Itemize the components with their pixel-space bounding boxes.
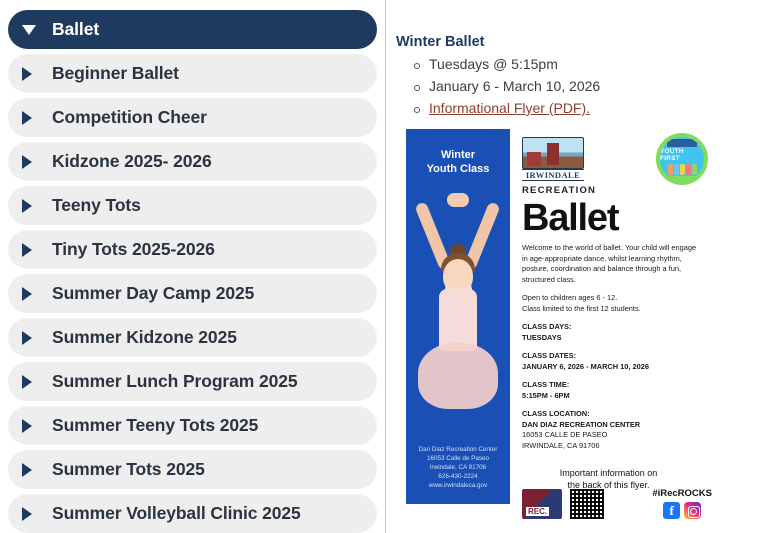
flyer-class-location: CLASS LOCATION: DAN DIAZ RECREATION CENT… (522, 409, 697, 451)
chevron-right-icon (22, 463, 42, 477)
flyer-class-time: CLASS TIME: 5:15PM - 6PM (522, 380, 697, 401)
sidebar-item-label: Summer Kidzone 2025 (52, 327, 237, 348)
sidebar-item-label: Kidzone 2025- 2026 (52, 151, 212, 172)
sidebar-item-label: Beginner Ballet (52, 63, 179, 84)
chevron-right-icon (22, 67, 42, 81)
sidebar-item-summer-kidzone-2025[interactable]: Summer Kidzone 2025 (8, 318, 377, 357)
ballet-dancer-photo (406, 181, 510, 441)
chevron-down-icon (22, 25, 42, 35)
flyer-headline: Ballet (522, 198, 716, 238)
sidebar-item-label: Tiny Tots 2025-2026 (52, 239, 215, 260)
youth-first-badge-icon: YOUTH FIRST (656, 133, 708, 185)
class-schedule-text: Tuesdays @ 5:15pm (429, 53, 558, 75)
flyer-ages-paragraph: Open to children ages 6 - 12. Class limi… (522, 293, 697, 314)
chevron-right-icon (22, 199, 42, 213)
sidebar-item-summer-tots-2025[interactable]: Summer Tots 2025 (8, 450, 377, 489)
sidebar-item-teeny-tots[interactable]: Teeny Tots (8, 186, 377, 225)
informational-flyer-link[interactable]: Informational Flyer (PDF). (429, 97, 590, 119)
sidebar-item-ballet[interactable]: Ballet (8, 10, 377, 49)
chevron-right-icon (22, 111, 42, 125)
youth-first-badge-label: YOUTH FIRST (660, 148, 704, 162)
flyer-contact-block: Dan Diaz Recreation Center 16053 Calle d… (406, 445, 510, 490)
sidebar-item-label: Summer Day Camp 2025 (52, 283, 254, 304)
chevron-right-icon (22, 331, 42, 345)
irwindale-logo: IRWINDALE (522, 137, 584, 181)
flyer-content: IRWINDALE RECREATION YOUTH FIRST (510, 129, 716, 519)
flyer-class-days: CLASS DAYS: TUESDAYS (522, 322, 697, 343)
flyer-footer: REC. #iRecROCKS f (522, 488, 712, 519)
facebook-icon[interactable]: f (663, 502, 680, 519)
sidebar-item-label: Ballet (52, 19, 99, 40)
list-item: January 6 - March 10, 2026 (414, 75, 773, 97)
sidebar-item-summer-day-camp-2025[interactable]: Summer Day Camp 2025 (8, 274, 377, 313)
sidebar-item-beginner-ballet[interactable]: Beginner Ballet (8, 54, 377, 93)
sidebar-item-kidzone-2025-2026[interactable]: Kidzone 2025- 2026 (8, 142, 377, 181)
program-category-sidebar[interactable]: Ballet Beginner Ballet Competition Cheer… (0, 0, 386, 533)
rec-logo-icon: REC. (522, 489, 562, 519)
sidebar-item-label: Summer Teeny Tots 2025 (52, 415, 258, 436)
sidebar-item-tiny-tots-2025-2026[interactable]: Tiny Tots 2025-2026 (8, 230, 377, 269)
chevron-right-icon (22, 375, 42, 389)
sidebar-item-summer-teeny-tots-2025[interactable]: Summer Teeny Tots 2025 (8, 406, 377, 445)
chevron-right-icon (22, 155, 42, 169)
flyer-class-dates: CLASS DATES: JANUARY 6, 2026 - MARCH 10,… (522, 351, 697, 372)
list-item[interactable]: Informational Flyer (PDF). (414, 97, 773, 119)
flyer-blue-banner: Winter Youth Class Dan Diaz Recr (406, 129, 510, 504)
class-detail-list: Tuesdays @ 5:15pm January 6 - March 10, … (414, 53, 773, 119)
rec-logo-label: REC. (526, 507, 549, 516)
sidebar-item-label: Summer Lunch Program 2025 (52, 371, 298, 392)
city-crest-icon (522, 137, 584, 169)
page-title: Winter Ballet (396, 34, 773, 50)
sidebar-item-summer-lunch-program-2025[interactable]: Summer Lunch Program 2025 (8, 362, 377, 401)
qr-code-icon[interactable] (570, 489, 604, 519)
chevron-right-icon (22, 507, 42, 521)
irwindale-logo-word: IRWINDALE (522, 169, 584, 181)
bullet-icon (414, 63, 420, 69)
flyer-banner-title: Winter Youth Class (406, 148, 510, 176)
chevron-right-icon (22, 419, 42, 433)
class-dates-text: January 6 - March 10, 2026 (429, 75, 600, 97)
flyer-intro-paragraph: Welcome to the world of ballet. Your chi… (522, 243, 697, 285)
flyer-body-text: Welcome to the world of ballet. Your chi… (522, 243, 697, 451)
chevron-right-icon (22, 243, 42, 257)
sidebar-item-label: Competition Cheer (52, 107, 207, 128)
sidebar-item-summer-volleyball-clinic-2025[interactable]: Summer Volleyball Clinic 2025 (8, 494, 377, 533)
chevron-right-icon (22, 287, 42, 301)
social-block: #iRecROCKS f (652, 488, 712, 519)
sidebar-item-label: Summer Volleyball Clinic 2025 (52, 503, 301, 524)
ballet-flyer-image[interactable]: Winter Youth Class Dan Diaz Recr (406, 129, 716, 519)
instagram-icon[interactable] (684, 502, 701, 519)
recreation-label: RECREATION (522, 185, 716, 196)
list-item: Tuesdays @ 5:15pm (414, 53, 773, 75)
bullet-icon (414, 107, 420, 113)
sidebar-item-label: Teeny Tots (52, 195, 141, 216)
bullet-icon (414, 85, 420, 91)
sidebar-item-competition-cheer[interactable]: Competition Cheer (8, 98, 377, 137)
page-root: Ballet Beginner Ballet Competition Cheer… (0, 0, 774, 533)
program-detail-panel: Winter Ballet Tuesdays @ 5:15pm January … (386, 0, 773, 533)
sidebar-item-label: Summer Tots 2025 (52, 459, 205, 480)
hashtag-label: #iRecROCKS (652, 488, 712, 499)
